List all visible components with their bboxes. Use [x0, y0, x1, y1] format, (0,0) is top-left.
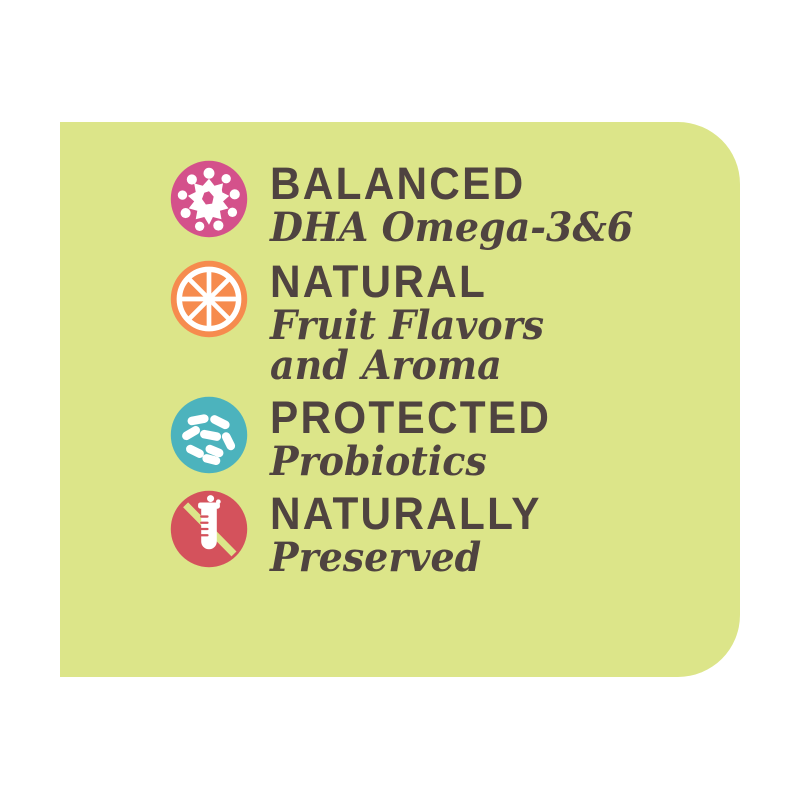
screenshot-canvas: BALANCED DHA Omega-3&6 — [0, 0, 800, 800]
dha-molecule-icon — [170, 160, 248, 238]
feature-row-naturally: NATURALLY Preserved — [170, 490, 730, 578]
feature-text-natural: NATURAL Fruit Flavors and Aroma — [270, 258, 730, 386]
product-benefits-panel: BALANCED DHA Omega-3&6 — [60, 122, 740, 677]
feature-subtitle: Fruit Flavors and Aroma — [270, 306, 707, 386]
feature-row-balanced: BALANCED DHA Omega-3&6 — [170, 160, 730, 248]
feature-subtitle: Probiotics — [270, 442, 707, 482]
feature-text-protected: PROTECTED Probiotics — [270, 394, 730, 482]
probiotics-bacteria-icon — [170, 396, 248, 474]
feature-row-natural: NATURAL Fruit Flavors and Aroma — [170, 258, 730, 386]
feature-title: BALANCED — [270, 162, 702, 206]
no-preservatives-test-tube-icon — [170, 490, 248, 568]
feature-text-balanced: BALANCED DHA Omega-3&6 — [270, 160, 730, 248]
feature-subtitle: DHA Omega-3&6 — [270, 208, 707, 248]
feature-subtitle: Preserved — [270, 538, 707, 578]
feature-title: NATURAL — [270, 260, 702, 304]
feature-title: PROTECTED — [270, 396, 702, 440]
feature-row-protected: PROTECTED Probiotics — [170, 394, 730, 482]
feature-text-naturally: NATURALLY Preserved — [270, 490, 730, 578]
feature-list: BALANCED DHA Omega-3&6 — [170, 160, 730, 578]
orange-slice-icon — [170, 260, 248, 338]
feature-title: NATURALLY — [270, 492, 702, 536]
